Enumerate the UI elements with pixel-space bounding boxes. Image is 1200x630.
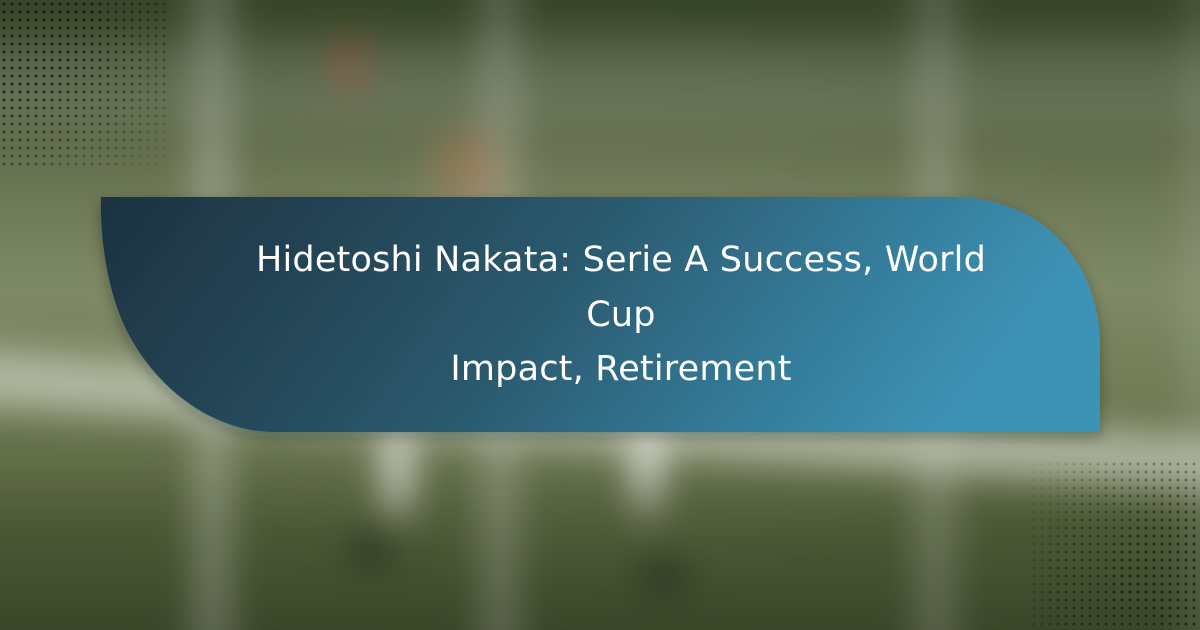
banner-canvas: Hidetoshi Nakata: Serie A Success, World…	[0, 0, 1200, 630]
banner-shape	[101, 197, 1100, 432]
title-banner: Hidetoshi Nakata: Serie A Success, World…	[90, 185, 1110, 445]
